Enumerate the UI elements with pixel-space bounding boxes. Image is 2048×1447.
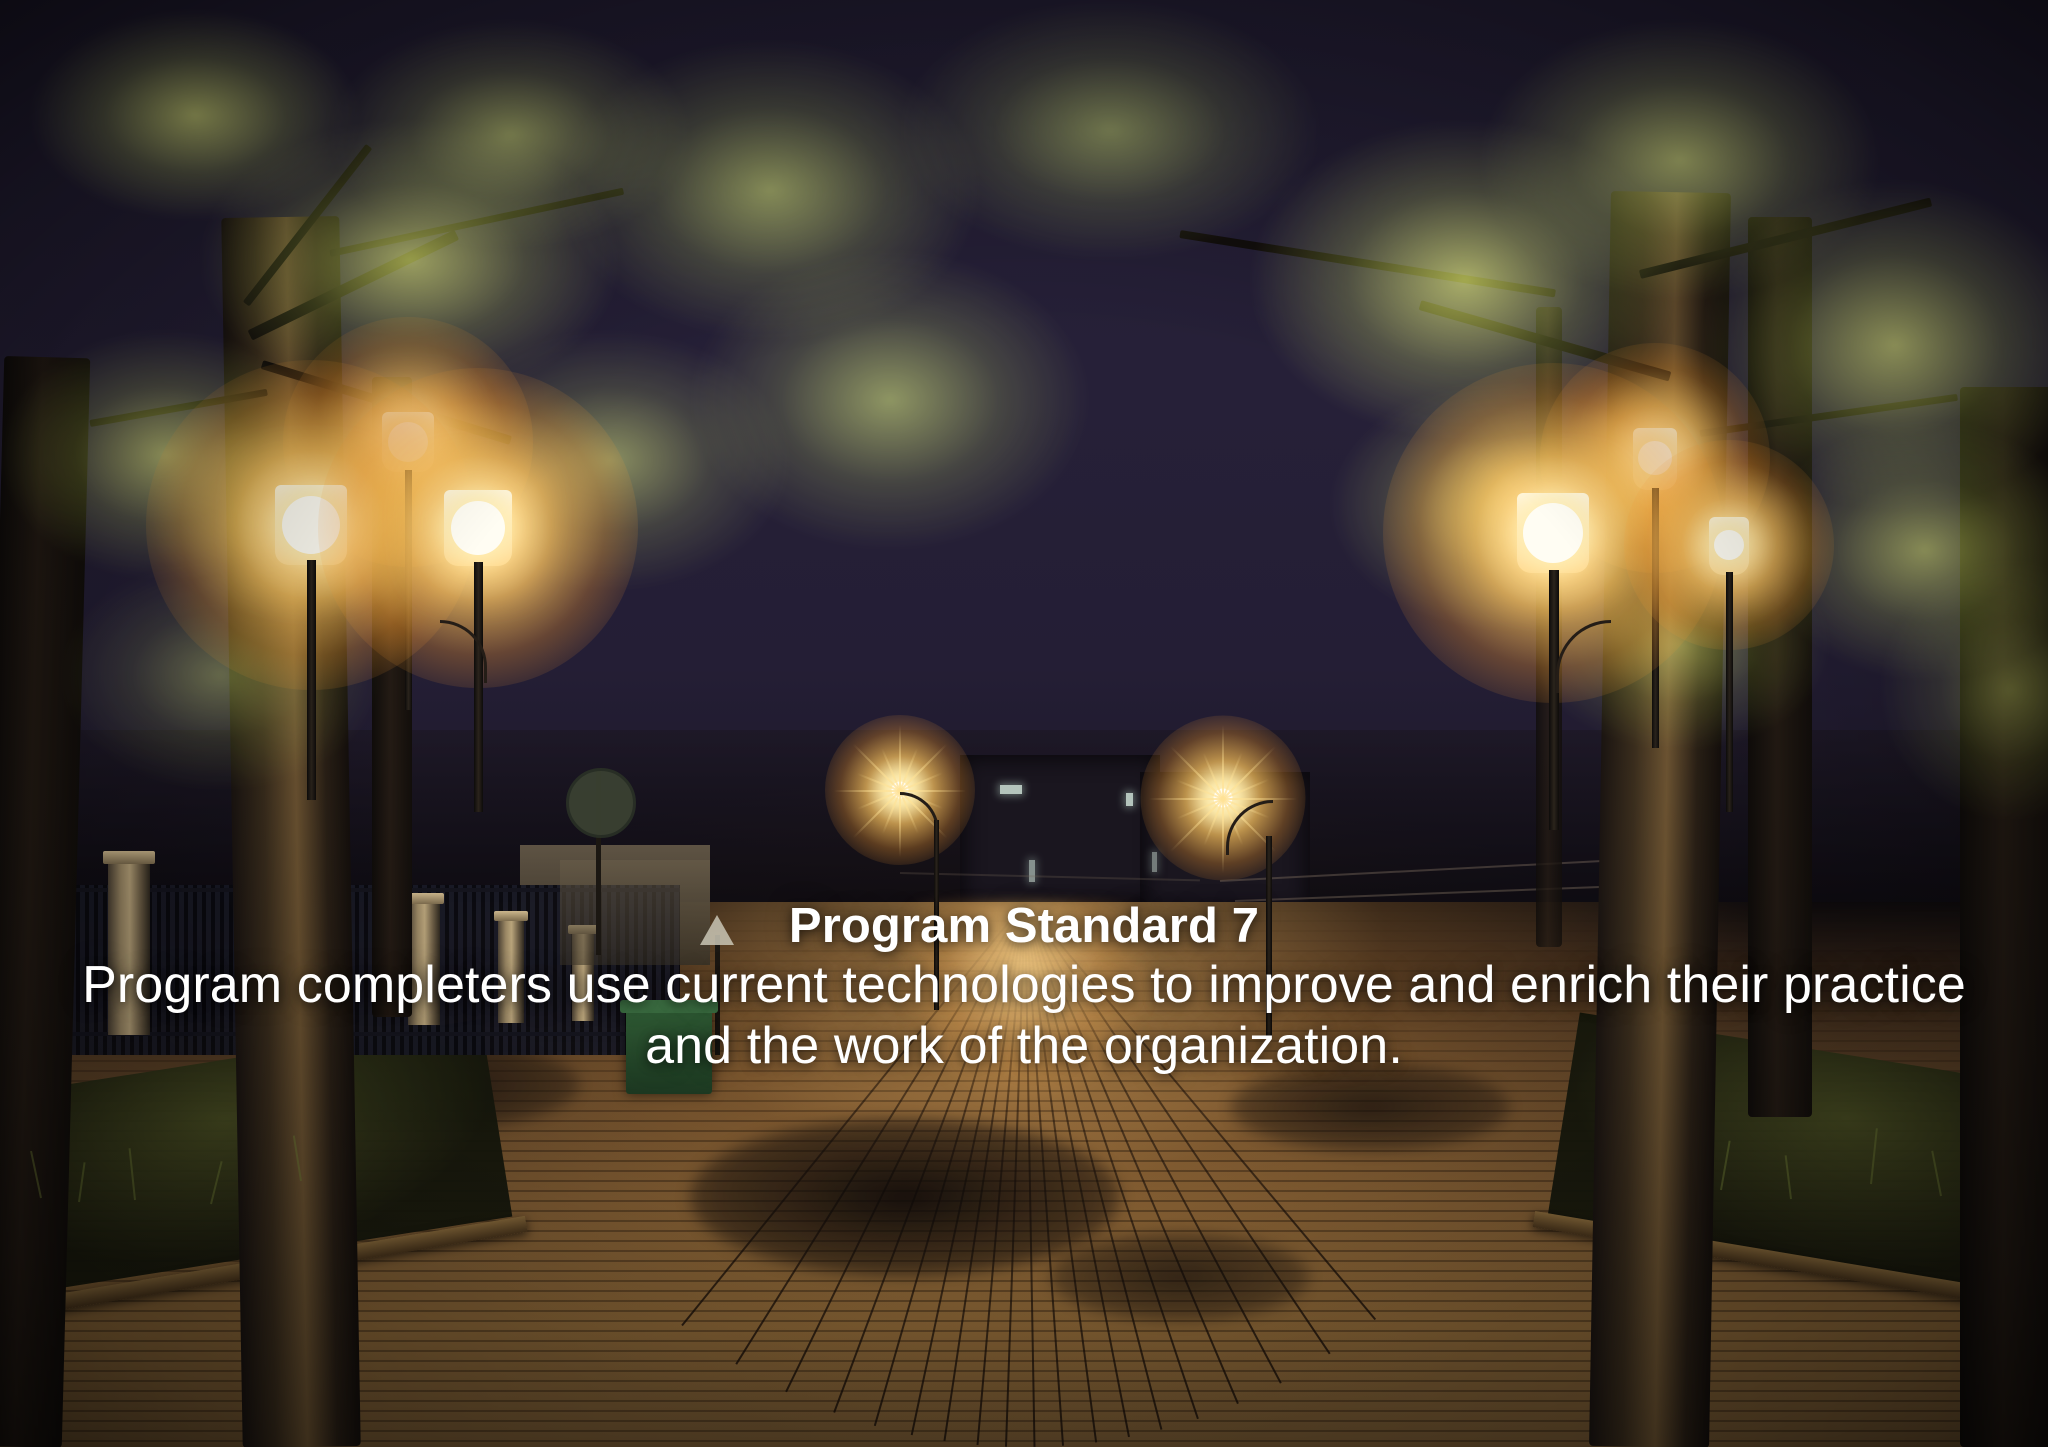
slide-canvas: Program Standard 7 Program completers us… [0,0,2048,1447]
distant-window-a [1000,785,1022,794]
distant-window-b [1126,793,1133,806]
caption-block: Program Standard 7 Program completers us… [0,900,2048,1078]
distant-window-d [1152,852,1157,872]
puddle-center [690,1117,1120,1277]
fence-pillar-cap-1 [103,851,155,864]
page-title: Program Standard 7 [40,900,2008,953]
puddle-foreground [1050,1232,1310,1322]
lamp-pole-left-third [474,562,483,812]
round-road-sign [566,768,636,838]
caption-body: Program completers use current technolog… [40,955,2008,1078]
distant-window-c [1029,860,1035,882]
lamp-pole-far-right [1726,572,1733,812]
lamp-pole-near-left [307,560,316,800]
lamp-pole-near-right [1549,570,1559,830]
distant-building-center [960,755,1160,905]
